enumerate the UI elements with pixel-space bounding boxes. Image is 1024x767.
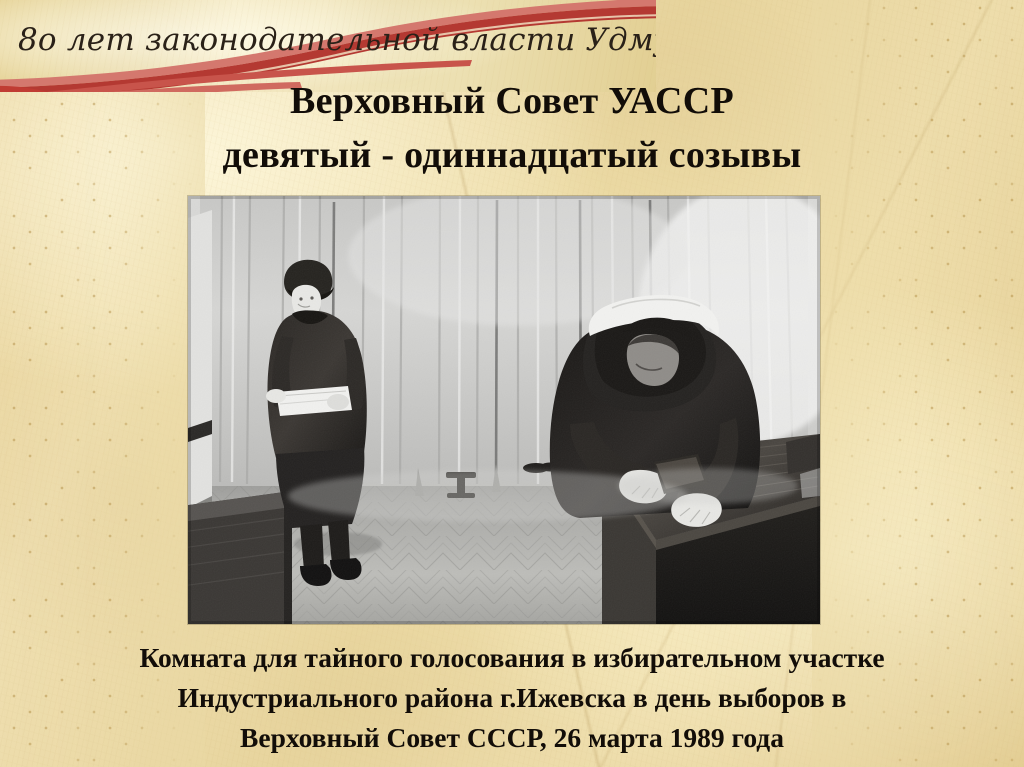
photo-caption: Комната для тайного голосования в избира… <box>32 638 992 758</box>
caption-line-2: Индустриального района г.Ижевска в день … <box>32 678 992 718</box>
caption-line-1: Комната для тайного голосования в избира… <box>32 638 992 678</box>
page-title-line-2: девятый - одиннадцатый созывы <box>0 133 1024 177</box>
presentation-slide: 8o лет законодательной власти Удмуртии В… <box>0 0 1024 767</box>
voting-room-photo-illustration <box>188 196 820 624</box>
page-title-line-1: Верховный Совет УАССР <box>0 79 1024 123</box>
caption-line-3: Верховный Совет СССР, 26 марта 1989 года <box>32 718 992 758</box>
header-banner-text: 8o лет законодательной власти Удмуртии <box>18 24 618 57</box>
historical-photo <box>188 196 820 624</box>
